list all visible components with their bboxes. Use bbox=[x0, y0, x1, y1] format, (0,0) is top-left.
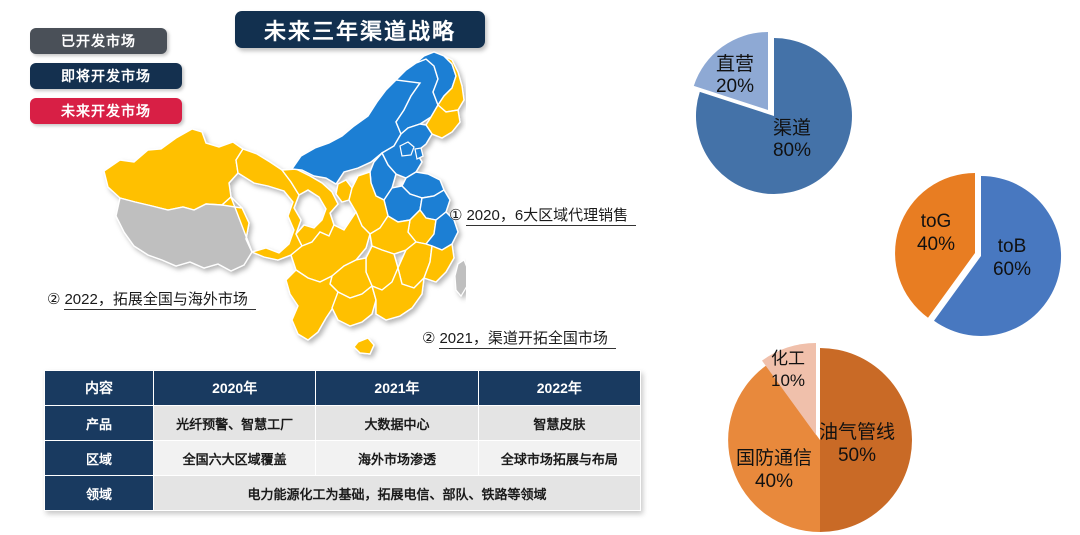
table-rowlabel-region: 区域 bbox=[45, 441, 154, 476]
map-region-tianjin[interactable] bbox=[415, 148, 423, 159]
table-rowlabel-product: 产品 bbox=[45, 406, 154, 441]
customer-type-pie[interactable]: toG 40% toB 60% bbox=[889, 168, 1074, 343]
table-cell: 光纤预警、智慧工厂 bbox=[154, 406, 316, 441]
table-header-content: 内容 bbox=[45, 371, 154, 406]
table-row: 区域 全国六大区域覆盖 海外市场渗透 全球市场拓展与布局 bbox=[45, 441, 641, 476]
pie3-value-defense: 40% bbox=[755, 471, 793, 492]
map-region-hainan[interactable] bbox=[354, 338, 374, 354]
legend-label-developed: 已开发市场 bbox=[61, 31, 136, 51]
pie3-label-defense: 国防通信 bbox=[736, 447, 812, 469]
map-annotation-2022: ②2022，拓展全国与海外市场 bbox=[47, 288, 256, 309]
table-row: 领域 电力能源化工为基础，拓展电信、部队、铁路等领域 bbox=[45, 476, 641, 511]
annotation-number-1: ① bbox=[449, 207, 462, 224]
pie3-value-oilgas: 50% bbox=[838, 445, 876, 466]
table-header-2020: 2020年 bbox=[154, 371, 316, 406]
table-cell: 海外市场渗透 bbox=[316, 441, 478, 476]
map-region-yunnan[interactable] bbox=[286, 270, 338, 340]
industry-pie[interactable]: 化工 10% 国防通信 40% 油气管线 50% bbox=[712, 340, 912, 535]
pie3-value-chemical: 10% bbox=[771, 371, 805, 390]
pie1-value-channel: 80% bbox=[773, 140, 811, 161]
roadmap-table: 内容 2020年 2021年 2022年 产品 光纤预警、智慧工厂 大数据中心 … bbox=[44, 370, 641, 511]
table-header-row: 内容 2020年 2021年 2022年 bbox=[45, 371, 641, 406]
pie1-label-channel: 渠道 bbox=[773, 117, 811, 139]
china-map[interactable] bbox=[86, 50, 466, 380]
slide-title-text: 未来三年渠道战略 bbox=[264, 14, 456, 46]
annotation-number-3: ② bbox=[422, 330, 435, 347]
table-header-2022: 2022年 bbox=[478, 371, 640, 406]
table-rowlabel-domain: 领域 bbox=[45, 476, 154, 511]
table-header-2021: 2021年 bbox=[316, 371, 478, 406]
annotation-text-2: 2022，拓展全国与海外市场 bbox=[64, 291, 255, 310]
slide-title: 未来三年渠道战略 bbox=[235, 11, 485, 48]
table-cell: 大数据中心 bbox=[316, 406, 478, 441]
slide-canvas: 未来三年渠道战略 已开发市场 即将开发市场 未来开发市场 bbox=[0, 0, 1080, 535]
pie2-label-tog: toG bbox=[921, 211, 952, 232]
map-region-taiwan[interactable] bbox=[455, 260, 466, 296]
map-annotation-2021: ②2021，渠道开拓全国市场 bbox=[422, 327, 616, 348]
pie3-label-chemical: 化工 bbox=[771, 349, 805, 368]
channel-mix-pie[interactable]: 直营 20% 渠道 80% bbox=[682, 22, 862, 202]
map-region-tibet[interactable] bbox=[116, 197, 252, 271]
table-row: 产品 光纤预警、智慧工厂 大数据中心 智慧皮肤 bbox=[45, 406, 641, 441]
pie1-value-direct: 20% bbox=[716, 76, 754, 97]
pie3-label-oilgas: 油气管线 bbox=[819, 421, 895, 443]
map-region-xinjiang[interactable] bbox=[104, 129, 243, 210]
annotation-text-3: 2021，渠道开拓全国市场 bbox=[439, 330, 615, 349]
pie2-value-tog: 40% bbox=[917, 234, 955, 255]
table-cell: 智慧皮肤 bbox=[478, 406, 640, 441]
annotation-text-1: 2020，6大区域代理销售 bbox=[466, 207, 636, 226]
pie2-value-tob: 60% bbox=[993, 259, 1031, 280]
pie1-label-direct: 直营 bbox=[716, 53, 754, 75]
table-cell: 全球市场拓展与布局 bbox=[478, 441, 640, 476]
pie2-label-tob: toB bbox=[998, 236, 1027, 257]
annotation-number-2: ② bbox=[47, 291, 60, 308]
table-cell: 全国六大区域覆盖 bbox=[154, 441, 316, 476]
table-cell-merged: 电力能源化工为基础，拓展电信、部队、铁路等领域 bbox=[154, 476, 641, 511]
map-annotation-2020: ①2020，6大区域代理销售 bbox=[449, 204, 636, 225]
